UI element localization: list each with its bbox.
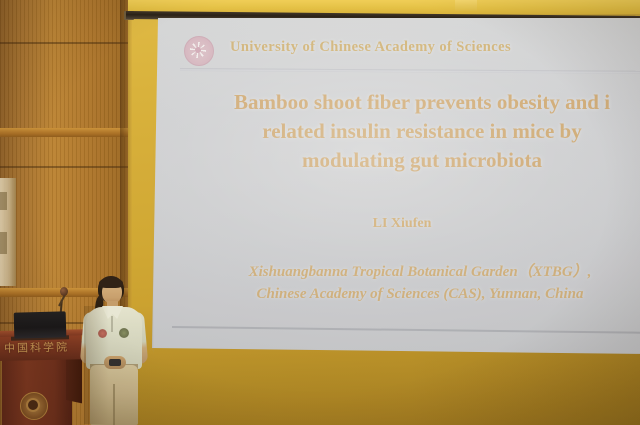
presenter-shirt-badge-right — [119, 328, 129, 338]
wood-panel-seam — [0, 42, 128, 44]
slide-title: Bamboo shoot fiber prevents obesity and … — [172, 88, 640, 175]
slide-affiliation: Xishuangbanna Tropical Botanical Garden（… — [174, 261, 640, 305]
wood-panel-band — [0, 128, 128, 137]
presenter-placket — [111, 316, 113, 332]
podium-inscription: 中国科学院 — [4, 339, 72, 356]
microphone-icon — [60, 287, 68, 296]
slide-title-line-3: modulating gut microbiota — [172, 146, 640, 175]
projected-slide: University of Chinese Academy of Science… — [150, 18, 640, 354]
presenter-fringe — [99, 278, 123, 288]
slide-affiliation-line-2: Chinese Academy of Sciences (CAS), Yunna… — [174, 283, 640, 305]
presentation-photo-scene: University of Chinese Academy of Science… — [0, 0, 640, 425]
cas-seal-emblem-icon — [20, 392, 48, 420]
slide-header-organization: University of Chinese Academy of Science… — [230, 39, 511, 56]
presenter-figure — [78, 276, 152, 425]
valance-seam — [455, 0, 477, 11]
presenter-clicker — [109, 359, 121, 366]
ucas-seal-logo-icon — [184, 36, 214, 66]
wall-fixture-detail — [0, 192, 7, 210]
slide-header: University of Chinese Academy of Science… — [184, 34, 640, 70]
presenter-trouser-seam — [113, 384, 115, 425]
presenter-laptop — [14, 311, 67, 338]
wall-fixture-detail — [0, 232, 7, 254]
presenter-shirt-badge-left — [98, 329, 107, 338]
slide-title-line-2: related insulin resistance in mice by — [172, 117, 640, 146]
slide-affiliation-line-1: Xishuangbanna Tropical Botanical Garden（… — [174, 261, 640, 283]
slide-presenter-name: LI Xiufen — [172, 216, 632, 232]
wood-panel-seam — [0, 166, 128, 168]
slide-footer-divider — [172, 326, 640, 333]
slide-title-line-1: Bamboo shoot fiber prevents obesity and … — [172, 88, 640, 117]
